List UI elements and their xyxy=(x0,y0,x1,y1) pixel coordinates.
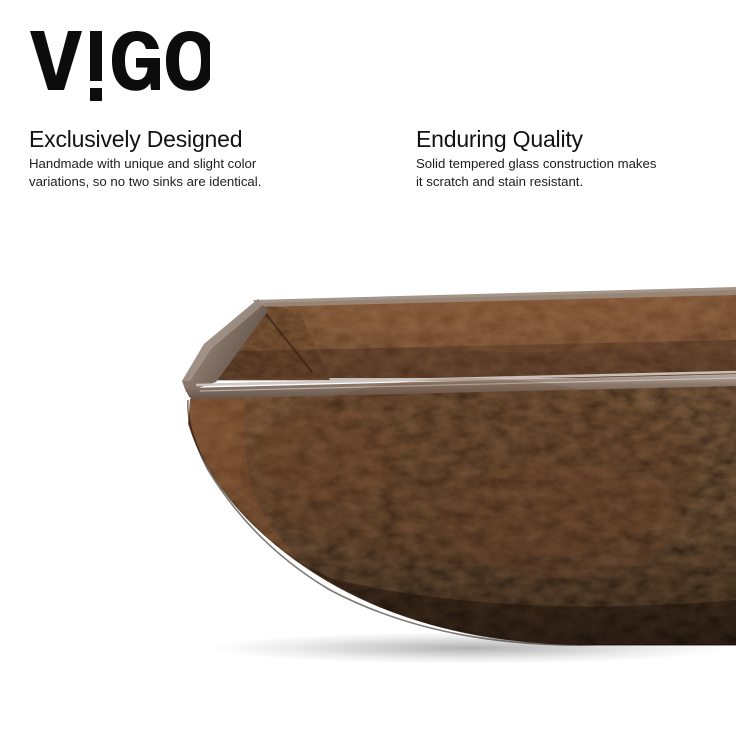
sink-outline xyxy=(188,400,736,645)
sink-copper-fleck-a xyxy=(440,462,680,578)
logo-letter-o xyxy=(166,31,210,91)
sink-front-face xyxy=(188,378,736,645)
feature-description: Solid tempered glass construction makes … xyxy=(416,155,716,190)
sink-left-rim-highlight xyxy=(182,299,264,381)
sink-base-shadow xyxy=(300,562,736,645)
vigo-logo-mark xyxy=(30,28,210,108)
vessel-sink-illustration xyxy=(0,0,736,736)
feature-description: Handmade with unique and slight color va… xyxy=(29,155,369,190)
vigo-logo xyxy=(30,28,210,108)
sink-front-face-vertical-shade xyxy=(188,386,736,645)
sink-interior-back-wall xyxy=(210,288,736,378)
logo-letter-g xyxy=(112,31,160,91)
sink-contact-shadow xyxy=(210,632,730,664)
sink-left-rim xyxy=(182,299,268,392)
sink-left-edge-highlight xyxy=(190,400,300,560)
sink-back-rim-edge xyxy=(253,287,736,307)
logo-letter-i-dot xyxy=(90,88,102,101)
feature-description-line-2: it scratch and stain resistant. xyxy=(416,173,716,191)
feature-block-enduring-quality: Enduring Quality Solid tempered glass co… xyxy=(416,126,716,190)
sink-interior-left-wall xyxy=(206,302,330,380)
feature-description-line-1: Solid tempered glass construction makes xyxy=(416,155,716,173)
sink-front-sheen xyxy=(240,378,700,562)
feature-title: Enduring Quality xyxy=(416,126,716,152)
sink-rim-specular-highlight-thin xyxy=(200,378,736,391)
logo-letter-i-bar xyxy=(90,31,102,81)
logo-letter-v xyxy=(30,31,82,90)
sink-interior xyxy=(206,284,736,381)
sink-copper-fleck-b xyxy=(260,409,400,501)
product-photo-vessel-sink xyxy=(0,0,736,736)
sink-front-face-fill xyxy=(188,386,736,645)
feature-title: Exclusively Designed xyxy=(29,126,369,152)
feature-description-line-1: Handmade with unique and slight color xyxy=(29,155,369,173)
sink-interior-corner-crease xyxy=(257,303,312,372)
product-feature-page: Exclusively Designed Handmade with uniqu… xyxy=(0,0,736,736)
sink-interior-floor-shadow xyxy=(206,340,736,381)
sink-interior-sheen xyxy=(320,284,720,352)
feature-block-exclusively-designed: Exclusively Designed Handmade with uniqu… xyxy=(29,126,369,190)
sink-rim-specular-highlight xyxy=(196,372,736,385)
sink-front-rim xyxy=(186,374,736,403)
feature-description-line-2: variations, so no two sinks are identica… xyxy=(29,173,369,191)
